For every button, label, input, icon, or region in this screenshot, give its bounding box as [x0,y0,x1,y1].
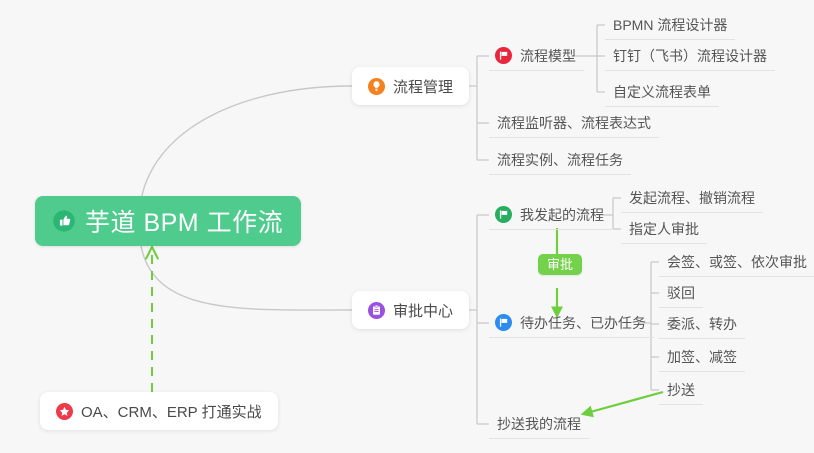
node-label: 会签、或签、依次审批 [667,252,807,272]
leaf-cc[interactable]: 抄送 [659,375,703,405]
node-label: BPMN 流程设计器 [613,15,727,35]
node-label: 指定人审批 [629,219,699,239]
connector-root-to-approval-center [140,240,352,310]
node-todo-done-tasks[interactable]: 待办任务、已办任务 [489,308,654,338]
connector-root-to-process-management [140,86,352,206]
leaf-dingtalk-designer[interactable]: 钉钉（飞书）流程设计器 [605,41,775,71]
branch-label: 审批中心 [393,300,453,321]
leaf-add-remove-sign[interactable]: 加签、减签 [659,342,745,372]
node-label: 我发起的流程 [520,205,604,225]
flag-icon [495,314,512,331]
branch-label: 流程管理 [393,76,453,97]
node-label: 驳回 [667,283,695,303]
leaf-custom-form[interactable]: 自定义流程表单 [605,77,719,107]
node-my-initiated[interactable]: 我发起的流程 [489,200,612,230]
callout-label: OA、CRM、ERP 打通实战 [81,401,262,422]
leaf-countersign[interactable]: 会签、或签、依次审批 [659,247,814,277]
node-process-model[interactable]: 流程模型 [489,41,584,71]
leaf-reject[interactable]: 驳回 [659,278,703,308]
leaf-assignee-approval[interactable]: 指定人审批 [621,214,707,244]
callout-integration[interactable]: OA、CRM、ERP 打通实战 [40,392,278,430]
leaf-bpmn-designer[interactable]: BPMN 流程设计器 [605,10,735,40]
node-label: 自定义流程表单 [613,82,711,102]
node-label: 委派、转办 [667,314,737,334]
star-icon [56,403,73,420]
flag-icon [495,47,512,64]
relation-arrow-cc [583,392,663,414]
leaf-cc-my-process[interactable]: 抄送我的流程 [489,409,589,439]
branch-approval-center[interactable]: 审批中心 [352,291,469,329]
node-label: 流程实例、流程任务 [497,150,623,170]
relation-label-approval: 审批 [538,254,582,275]
node-label: 加签、减签 [667,347,737,367]
leaf-start-cancel-process[interactable]: 发起流程、撤销流程 [621,183,763,213]
mindmap-canvas: 芋道 BPM 工作流 流程管理 流程模型 BPMN 流程设计器 钉钉（飞书）流程 [0,0,814,453]
node-label: 抄送 [667,380,695,400]
node-label: 流程监听器、流程表达式 [497,113,651,133]
leaf-process-instance[interactable]: 流程实例、流程任务 [489,145,631,175]
branch-process-management[interactable]: 流程管理 [352,67,469,105]
root-label: 芋道 BPM 工作流 [85,203,283,239]
relation-label-text: 审批 [547,257,573,272]
lightbulb-icon [368,78,385,95]
thumbs-up-icon [53,210,75,232]
leaf-delegate-transfer[interactable]: 委派、转办 [659,309,745,339]
node-label: 钉钉（飞书）流程设计器 [613,46,767,66]
root-node[interactable]: 芋道 BPM 工作流 [35,196,301,246]
node-label: 发起流程、撤销流程 [629,188,755,208]
node-label: 抄送我的流程 [497,414,581,434]
node-label: 待办任务、已办任务 [520,313,646,333]
clipboard-icon [368,302,385,319]
flag-icon [495,206,512,223]
leaf-process-listener[interactable]: 流程监听器、流程表达式 [489,108,659,138]
node-label: 流程模型 [520,46,576,66]
